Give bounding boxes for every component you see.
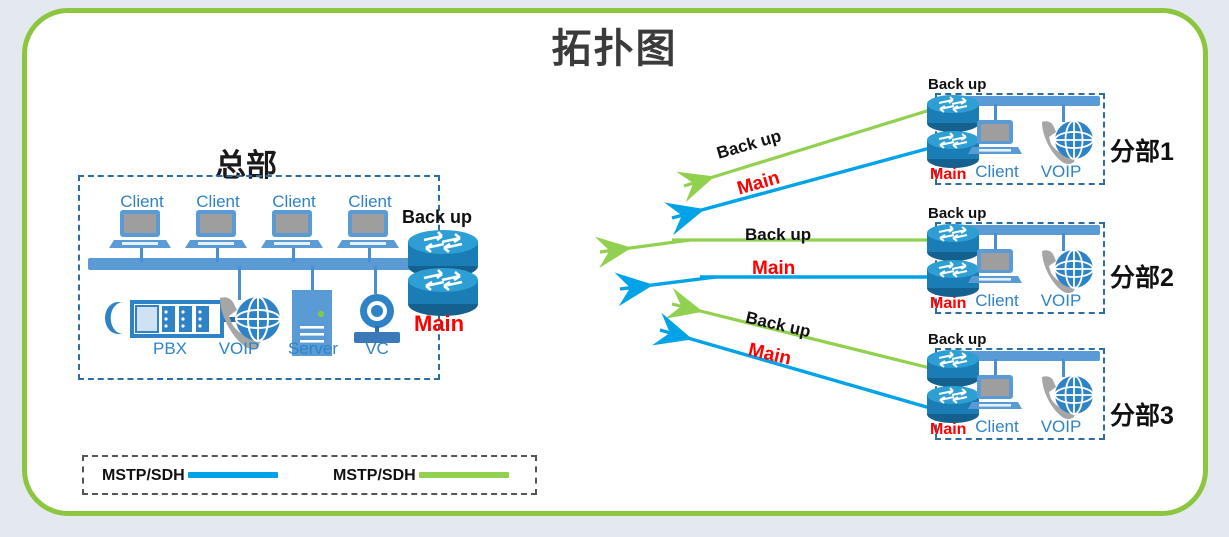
topology-diagram: 拓扑图 总部 [0,0,1229,537]
client-label: Client [262,193,326,211]
client-label: Client [970,163,1024,181]
branch-router-backup-label: Back up [928,76,986,93]
voip-label: VOIP [1034,418,1088,436]
legend-swatch-backup [419,472,509,478]
branch-title: 分部3 [1110,396,1174,432]
branch-router-main-label: Main [930,421,966,439]
link-main-branch2-elbow [620,277,716,289]
branch-title: 分部2 [1110,258,1174,294]
legend-label-backup: MSTP/SDH [333,467,416,485]
hq-router-main-label: Main [414,311,464,337]
laptop-icon[interactable] [970,118,1022,158]
link-label-main-branch2: Main [752,258,795,280]
laptop-icon[interactable] [970,247,1022,287]
branch-router-backup-label: Back up [928,331,986,348]
link-main-branch1 [672,148,930,218]
client-label: Client [970,292,1024,310]
server-label: Server [282,340,344,358]
voip-label: VOIP [208,340,270,358]
client-label: Client [110,193,174,211]
voip-globe-icon[interactable] [1032,116,1098,168]
router-icon[interactable] [404,264,482,318]
link-main-branch3 [660,330,930,408]
branch-router-backup-label: Back up [928,205,986,222]
vc-label: VC [348,340,406,358]
voip-globe-icon[interactable] [1032,245,1098,297]
link-backup-branch2-elbow [600,240,690,252]
laptop-icon [340,208,400,252]
voip-label: VOIP [1034,163,1088,181]
laptop-icon [112,208,172,252]
branch-title: 分部1 [1110,132,1174,168]
laptop-icon [188,208,248,252]
hq-router-backup-label: Back up [402,207,472,228]
link-label-backup-branch2: Back up [745,225,811,245]
legend-swatch-main [188,472,278,478]
branch-router-main-label: Main [930,166,966,184]
laptop-icon[interactable] [970,373,1022,413]
pbx-label: PBX [140,340,200,358]
voip-globe-icon[interactable] [1032,371,1098,423]
branch-router-main-label: Main [930,295,966,313]
client-label: Client [970,418,1024,436]
laptop-icon [264,208,324,252]
client-label: Client [186,193,250,211]
voip-label: VOIP [1034,292,1088,310]
client-label: Client [338,193,402,211]
legend-label-main: MSTP/SDH [102,467,185,485]
